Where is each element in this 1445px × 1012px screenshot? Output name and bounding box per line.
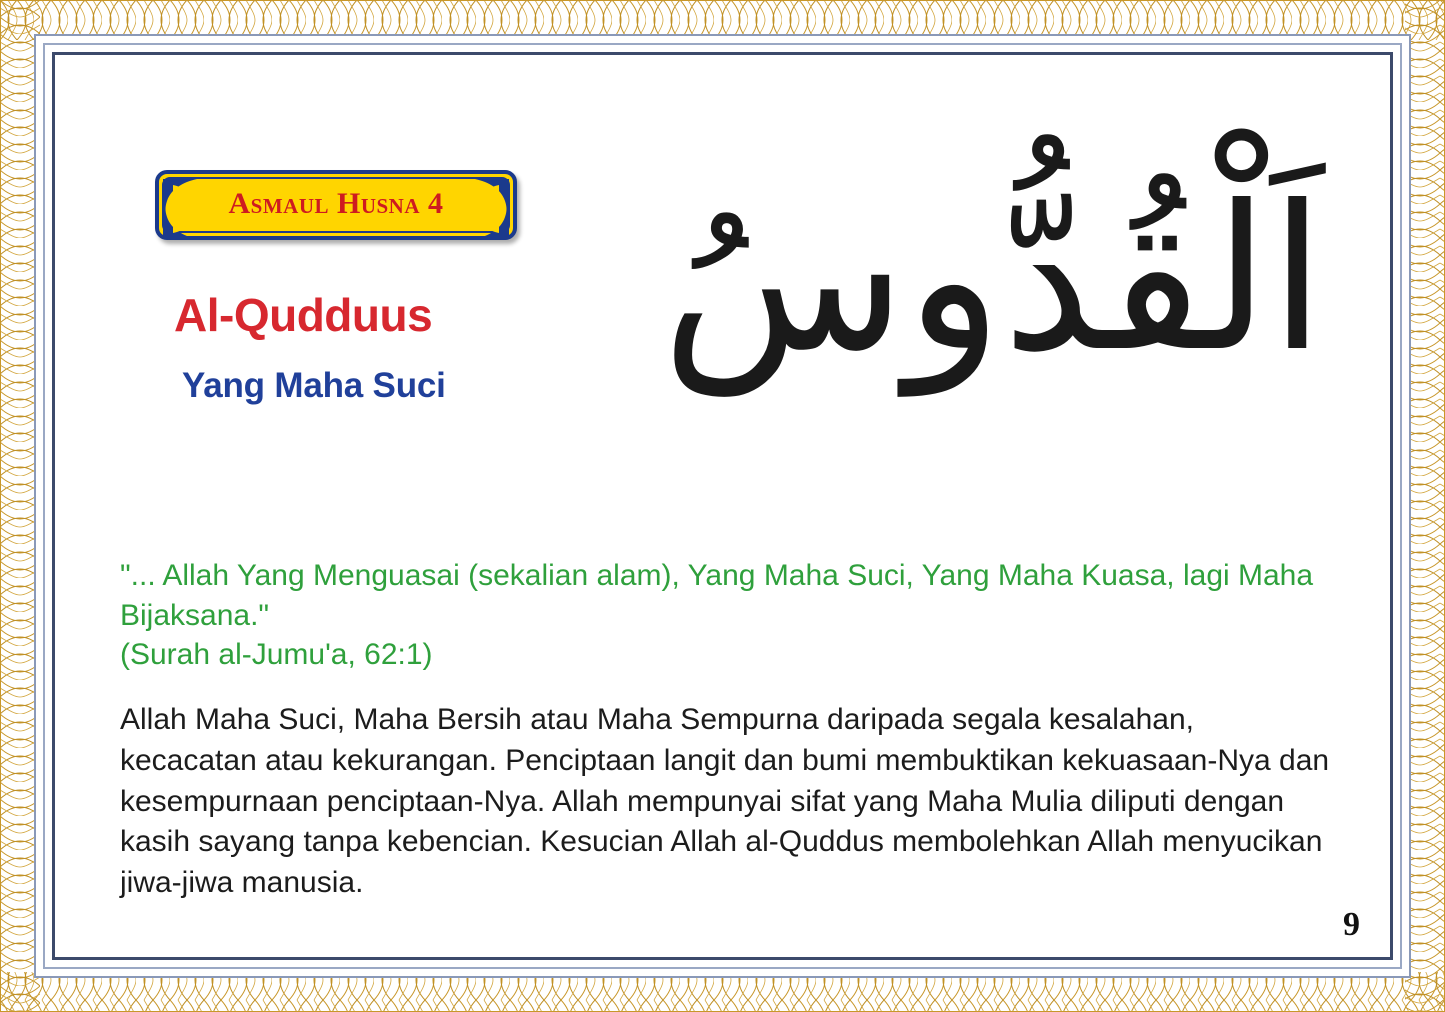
asmaul-husna-banner: Asmaul Husna 4 [155, 170, 517, 240]
page-number: 9 [1343, 906, 1360, 944]
banner-label: Asmaul Husna 4 [159, 174, 513, 236]
flashcard-page: Asmaul Husna 4 اَلْقُدُّوسُ Al-Qudduus Y… [0, 0, 1445, 1012]
arabic-calligraphy: اَلْقُدُّوسُ [625, 120, 1325, 440]
body-paragraph: Allah Maha Suci, Maha Bersih atau Maha S… [120, 700, 1335, 904]
quote-text: "... Allah Yang Menguasai (sekalian alam… [120, 559, 1313, 632]
card-content: Asmaul Husna 4 اَلْقُدُّوسُ Al-Qudduus Y… [0, 0, 1445, 1012]
quran-quote: "... Allah Yang Menguasai (sekalian alam… [120, 556, 1325, 675]
page-title: Al-Qudduus [174, 288, 432, 342]
quote-source: (Surah al-Jumu'a, 62:1) [120, 635, 1325, 675]
page-subtitle: Yang Maha Suci [182, 366, 446, 406]
